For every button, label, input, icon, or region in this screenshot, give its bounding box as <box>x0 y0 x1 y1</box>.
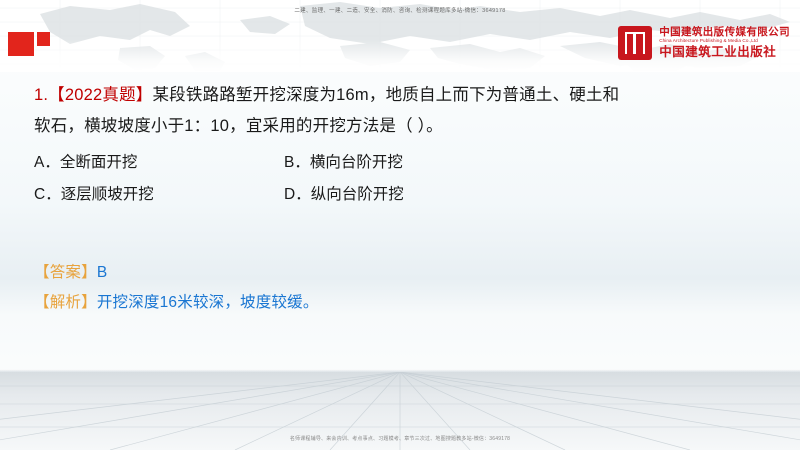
publisher-text: 中国建筑出版传媒有限公司 China Architecture Publishi… <box>659 27 790 58</box>
option-a[interactable]: A．全断面开挖 <box>34 147 284 179</box>
publisher-line1: 中国建筑出版传媒有限公司 <box>659 27 790 38</box>
publisher-line3: 中国建筑工业出版社 <box>659 46 790 59</box>
answer-line: 【答案】B <box>34 258 734 288</box>
question-line-1: 1.【2022真题】某段铁路路堑开挖深度为16m，地质自上而下为普通土、硬土和 <box>34 80 774 111</box>
publisher-logo-icon <box>618 26 652 60</box>
analysis-value: 开挖深度16米较深，坡度较缓。 <box>97 294 319 311</box>
options-list: A．全断面开挖 B．横向台阶开挖 C．逐层顺坡开挖 D．纵向台阶开挖 <box>34 147 774 211</box>
answer-label: 【答案】 <box>34 264 97 281</box>
red-block-small <box>37 32 50 46</box>
answer-block: 【答案】B 【解析】开挖深度16米较深，坡度较缓。 <box>34 258 734 318</box>
question-number: 1. <box>34 86 48 104</box>
top-note-text: 二建、监理、一建、二造、安全、消防、咨询、检测课程题库多站-微信：3649178 <box>0 6 800 14</box>
option-c[interactable]: C．逐层顺坡开挖 <box>34 179 284 211</box>
question-line-2: 软石，横坡坡度小于1：10，宜采用的开挖方法是（ ）。 <box>34 111 774 142</box>
analysis-line: 【解析】开挖深度16米较深，坡度较缓。 <box>34 288 734 318</box>
option-d[interactable]: D．纵向台阶开挖 <box>284 179 534 211</box>
stage-floor: 名师课程辅导、来会内训、考点事点、习题模考、章节三次过、地图搜题教多站-微信：3… <box>0 372 800 450</box>
question-tag: 【2022真题】 <box>48 86 152 104</box>
option-row-ab: A．全断面开挖 B．横向台阶开挖 <box>34 147 774 179</box>
slide-root: 二建、监理、一建、二造、安全、消防、咨询、检测课程题库多站-微信：3649178… <box>0 0 800 450</box>
footer-note-text: 名师课程辅导、来会内训、考点事点、习题模考、章节三次过、地图搜题教多站-微信：3… <box>0 435 800 442</box>
analysis-label: 【解析】 <box>34 294 97 311</box>
option-b[interactable]: B．横向台阶开挖 <box>284 147 534 179</box>
publisher-line2: China Architecture Publishing & Media Co… <box>659 39 790 44</box>
question-text-1: 某段铁路路堑开挖深度为16m，地质自上而下为普通土、硬土和 <box>152 86 619 104</box>
red-block-decoration-icon <box>8 32 50 56</box>
red-block-large <box>8 32 34 56</box>
top-banner: 二建、监理、一建、二造、安全、消防、咨询、检测课程题库多站-微信：3649178… <box>0 0 800 72</box>
option-row-cd: C．逐层顺坡开挖 D．纵向台阶开挖 <box>34 179 774 211</box>
question-content: 1.【2022真题】某段铁路路堑开挖深度为16m，地质自上而下为普通土、硬土和 … <box>34 80 774 211</box>
answer-value: B <box>97 264 108 281</box>
publisher-logo: 中国建筑出版传媒有限公司 China Architecture Publishi… <box>618 26 790 60</box>
